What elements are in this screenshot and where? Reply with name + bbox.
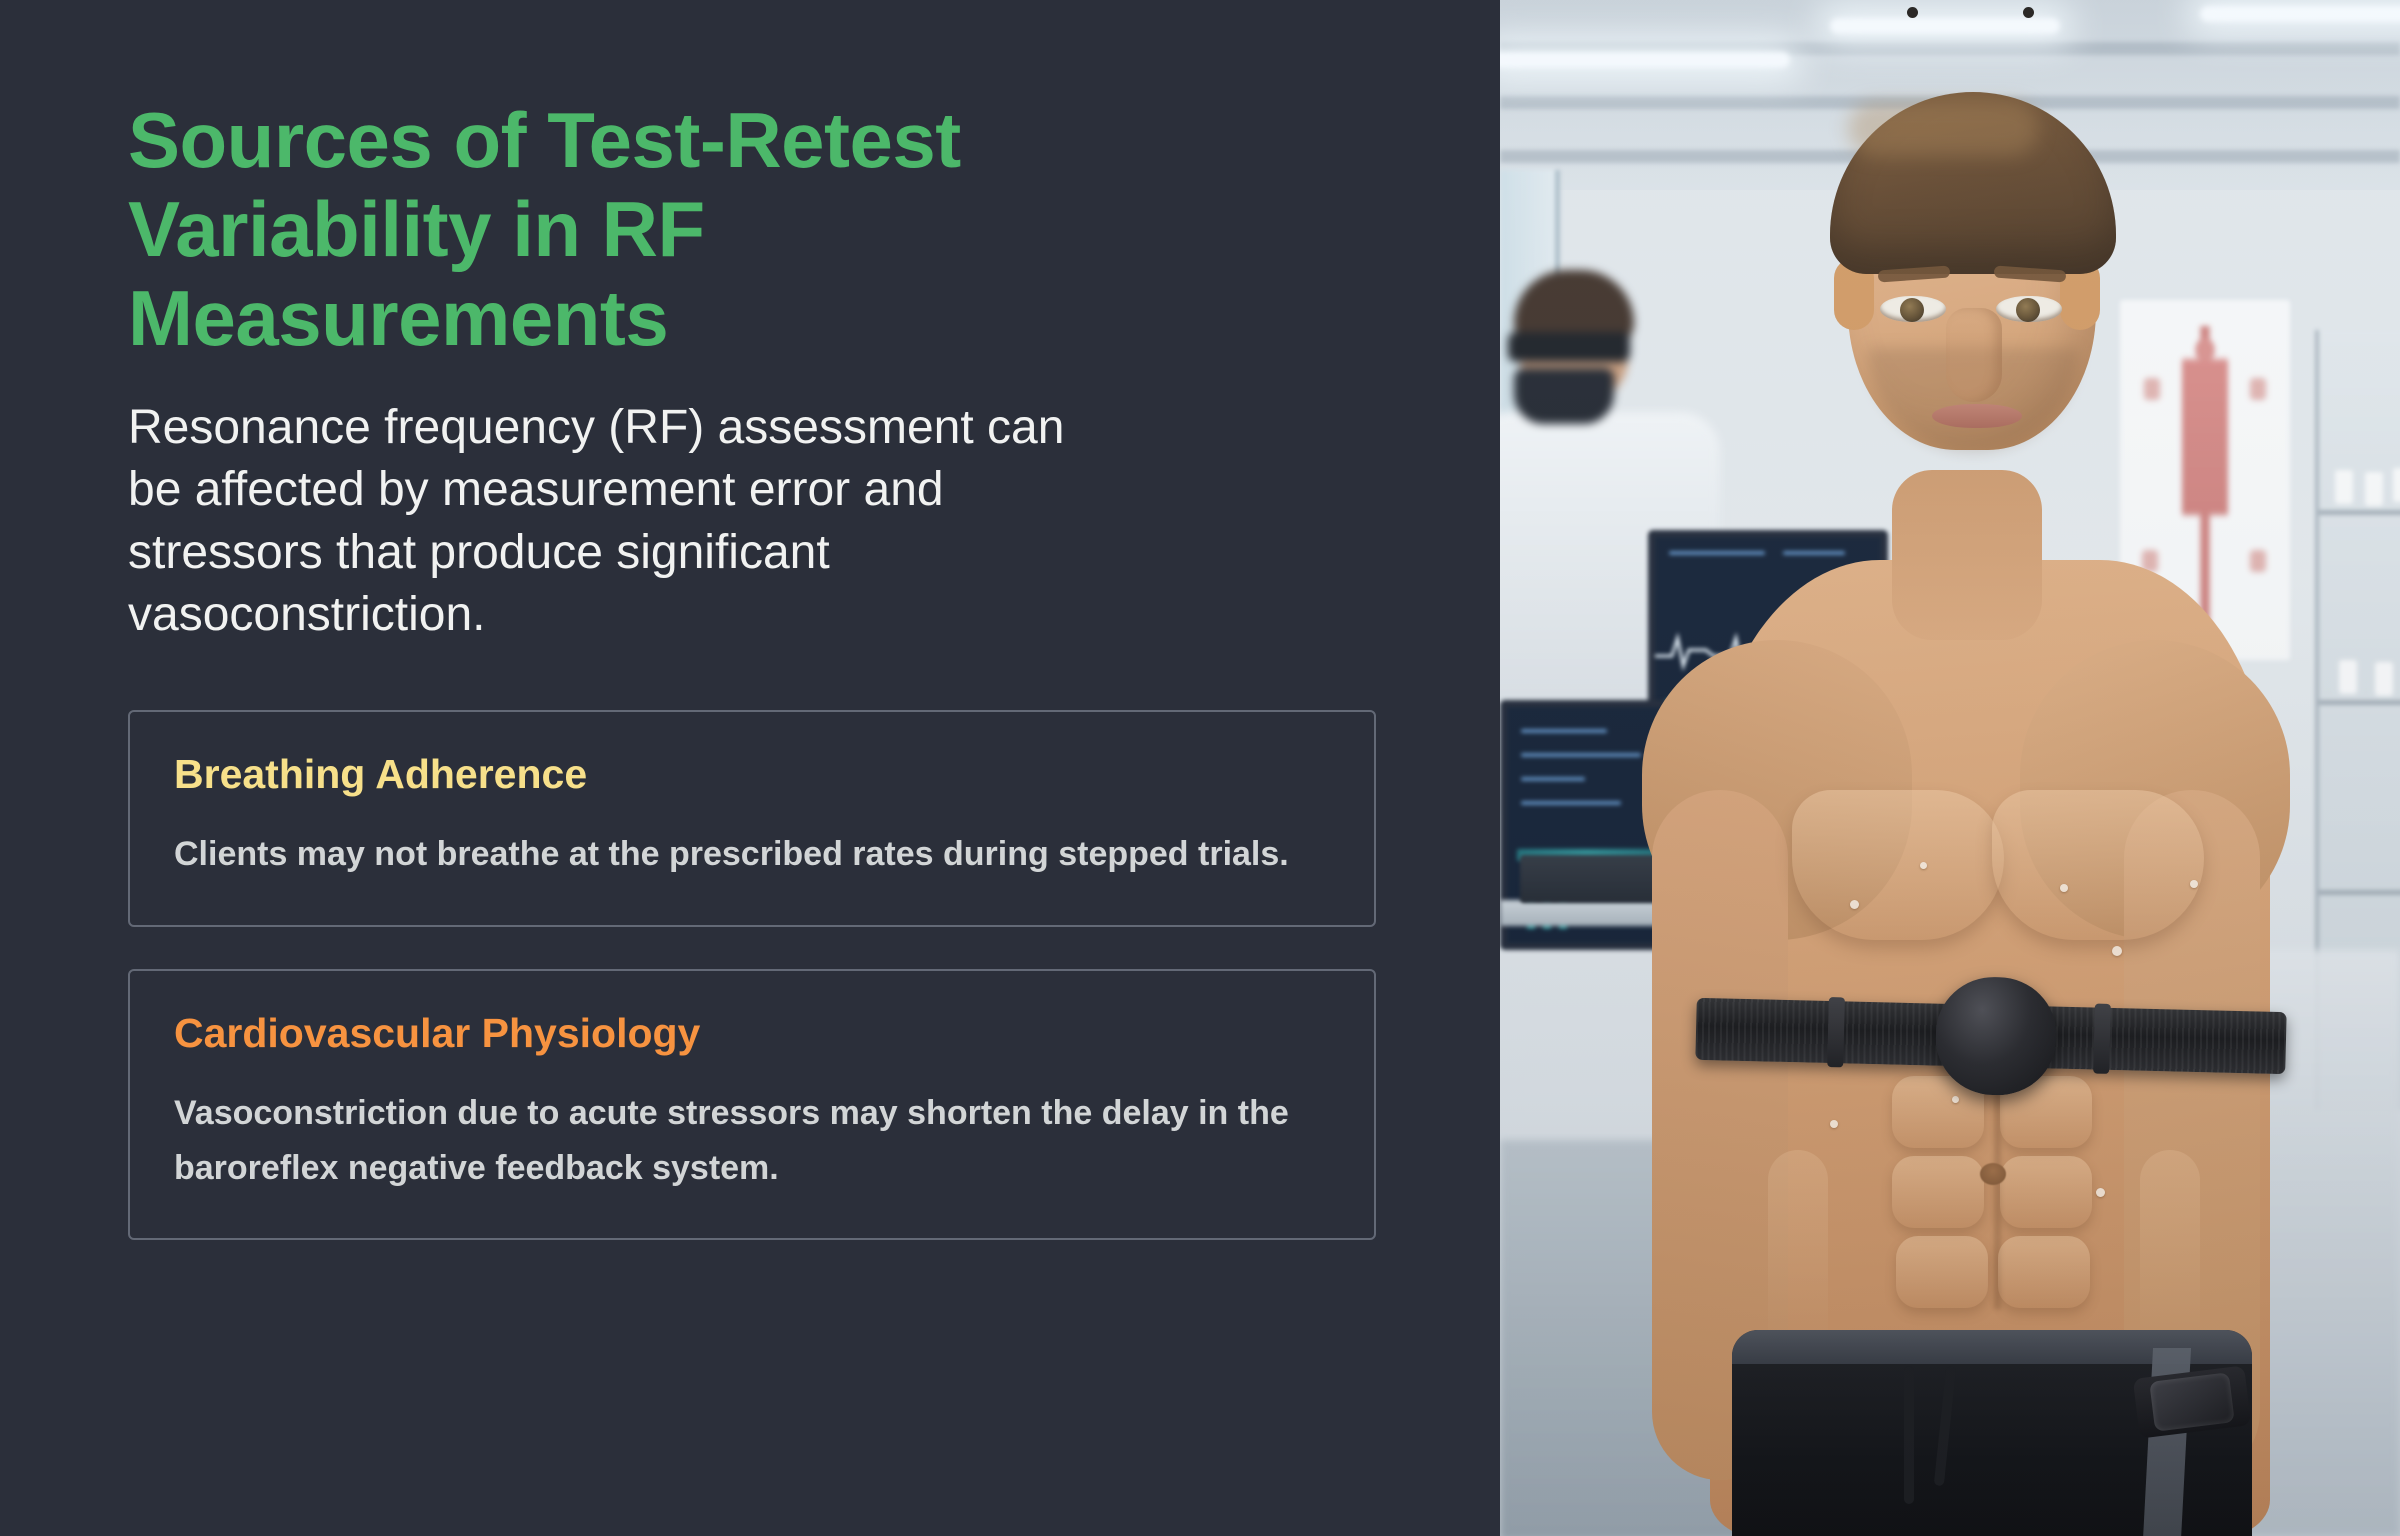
- slide-subtitle: Resonance frequency (RF) assessment can …: [128, 397, 1128, 647]
- navel: [1980, 1163, 2006, 1185]
- heart-rate-sensor-pod: [1935, 976, 2058, 1097]
- pectoral-right: [1992, 790, 2204, 940]
- page-title: Sources of Test-Retest Variability in RF…: [128, 96, 1088, 363]
- hair: [1830, 92, 2116, 274]
- eye-right: [1996, 296, 2062, 322]
- card-title: Cardiovascular Physiology: [174, 1009, 1330, 1058]
- nose: [1946, 308, 2002, 402]
- eye-left: [1880, 296, 1946, 322]
- photo-panel: [1500, 0, 2400, 1536]
- lab-photo: [1500, 0, 2400, 1536]
- card-title: Breathing Adherence: [174, 750, 1330, 799]
- slide-root: Sources of Test-Retest Variability in RF…: [0, 0, 2400, 1536]
- card-list: Breathing Adherence Clients may not brea…: [128, 710, 1372, 1240]
- card-body: Vasoconstriction due to acute stressors …: [174, 1086, 1330, 1196]
- card-breathing-adherence: Breathing Adherence Clients may not brea…: [128, 710, 1376, 926]
- pectoral-left: [1792, 790, 2004, 940]
- neck: [1892, 470, 2042, 640]
- subject-figure: [1500, 0, 2400, 1536]
- text-panel: Sources of Test-Retest Variability in RF…: [0, 0, 1500, 1536]
- lips: [1932, 404, 2022, 428]
- card-body: Clients may not breathe at the prescribe…: [174, 827, 1330, 882]
- card-cardiovascular-physiology: Cardiovascular Physiology Vasoconstricti…: [128, 969, 1376, 1240]
